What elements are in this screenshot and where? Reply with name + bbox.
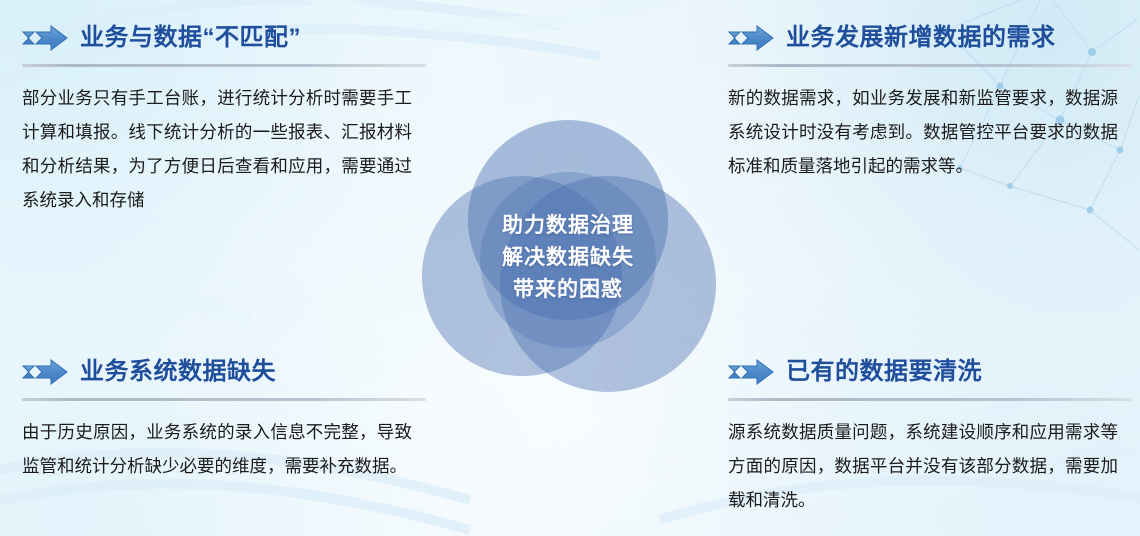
center-line-2: 解决数据缺失 xyxy=(502,243,634,273)
quadrant-header: 业务系统数据缺失 xyxy=(22,352,432,392)
center-venn-graphic: 助力数据治理 解决数据缺失 带来的困惑 xyxy=(418,108,718,408)
heading-underline xyxy=(728,398,1132,401)
quadrant-business-system-data-missing: 业务系统数据缺失 由于历史原因，业务系统的录入信息不完整，导致监管和统计分析缺少… xyxy=(22,352,432,483)
center-line-1: 助力数据治理 xyxy=(502,211,634,241)
quadrant-existing-data-cleaning: 已有的数据要清洗 源系统数据质量问题，系统建设顺序和应用需求等方面的原因，数据平… xyxy=(728,352,1138,517)
arrow-right-icon xyxy=(22,357,68,387)
slide-canvas: 业务与数据“不匹配” 部分业务只有手工台账，进行统计分析时需要手工计算和填报。线… xyxy=(0,0,1140,536)
arrow-right-icon xyxy=(728,357,774,387)
arrow-right-icon xyxy=(728,23,774,53)
quadrant-heading: 业务系统数据缺失 xyxy=(80,360,276,384)
heading-underline xyxy=(22,64,426,67)
quadrant-heading: 业务发展新增数据的需求 xyxy=(786,26,1056,50)
quadrant-header: 已有的数据要清洗 xyxy=(728,352,1138,392)
quadrant-body-text: 由于历史原因，业务系统的录入信息不完整，导致监管和统计分析缺少必要的维度，需要补… xyxy=(22,415,412,483)
quadrant-body-text: 部分业务只有手工台账，进行统计分析时需要手工计算和填报。线下统计分析的一些报表、… xyxy=(22,81,412,217)
arrow-right-icon xyxy=(22,23,68,53)
quadrant-heading: 业务与数据“不匹配” xyxy=(80,26,301,50)
heading-underline xyxy=(22,398,426,401)
quadrant-body-text: 新的数据需求，如业务发展和新监管要求，数据源系统设计时没有考虑到。数据管控平台要… xyxy=(728,81,1118,183)
quadrant-body-text: 源系统数据质量问题，系统建设顺序和应用需求等方面的原因，数据平台并没有该部分数据… xyxy=(728,415,1118,517)
quadrant-new-data-demand: 业务发展新增数据的需求 新的数据需求，如业务发展和新监管要求，数据源系统设计时没… xyxy=(728,18,1138,183)
center-line-3: 带来的困惑 xyxy=(513,275,623,305)
quadrant-header: 业务发展新增数据的需求 xyxy=(728,18,1138,58)
center-venn-text: 助力数据治理 解决数据缺失 带来的困惑 xyxy=(418,108,718,408)
quadrant-header: 业务与数据“不匹配” xyxy=(22,18,432,58)
heading-underline xyxy=(728,64,1132,67)
quadrant-heading: 已有的数据要清洗 xyxy=(786,360,982,384)
quadrant-business-data-mismatch: 业务与数据“不匹配” 部分业务只有手工台账，进行统计分析时需要手工计算和填报。线… xyxy=(22,18,432,217)
